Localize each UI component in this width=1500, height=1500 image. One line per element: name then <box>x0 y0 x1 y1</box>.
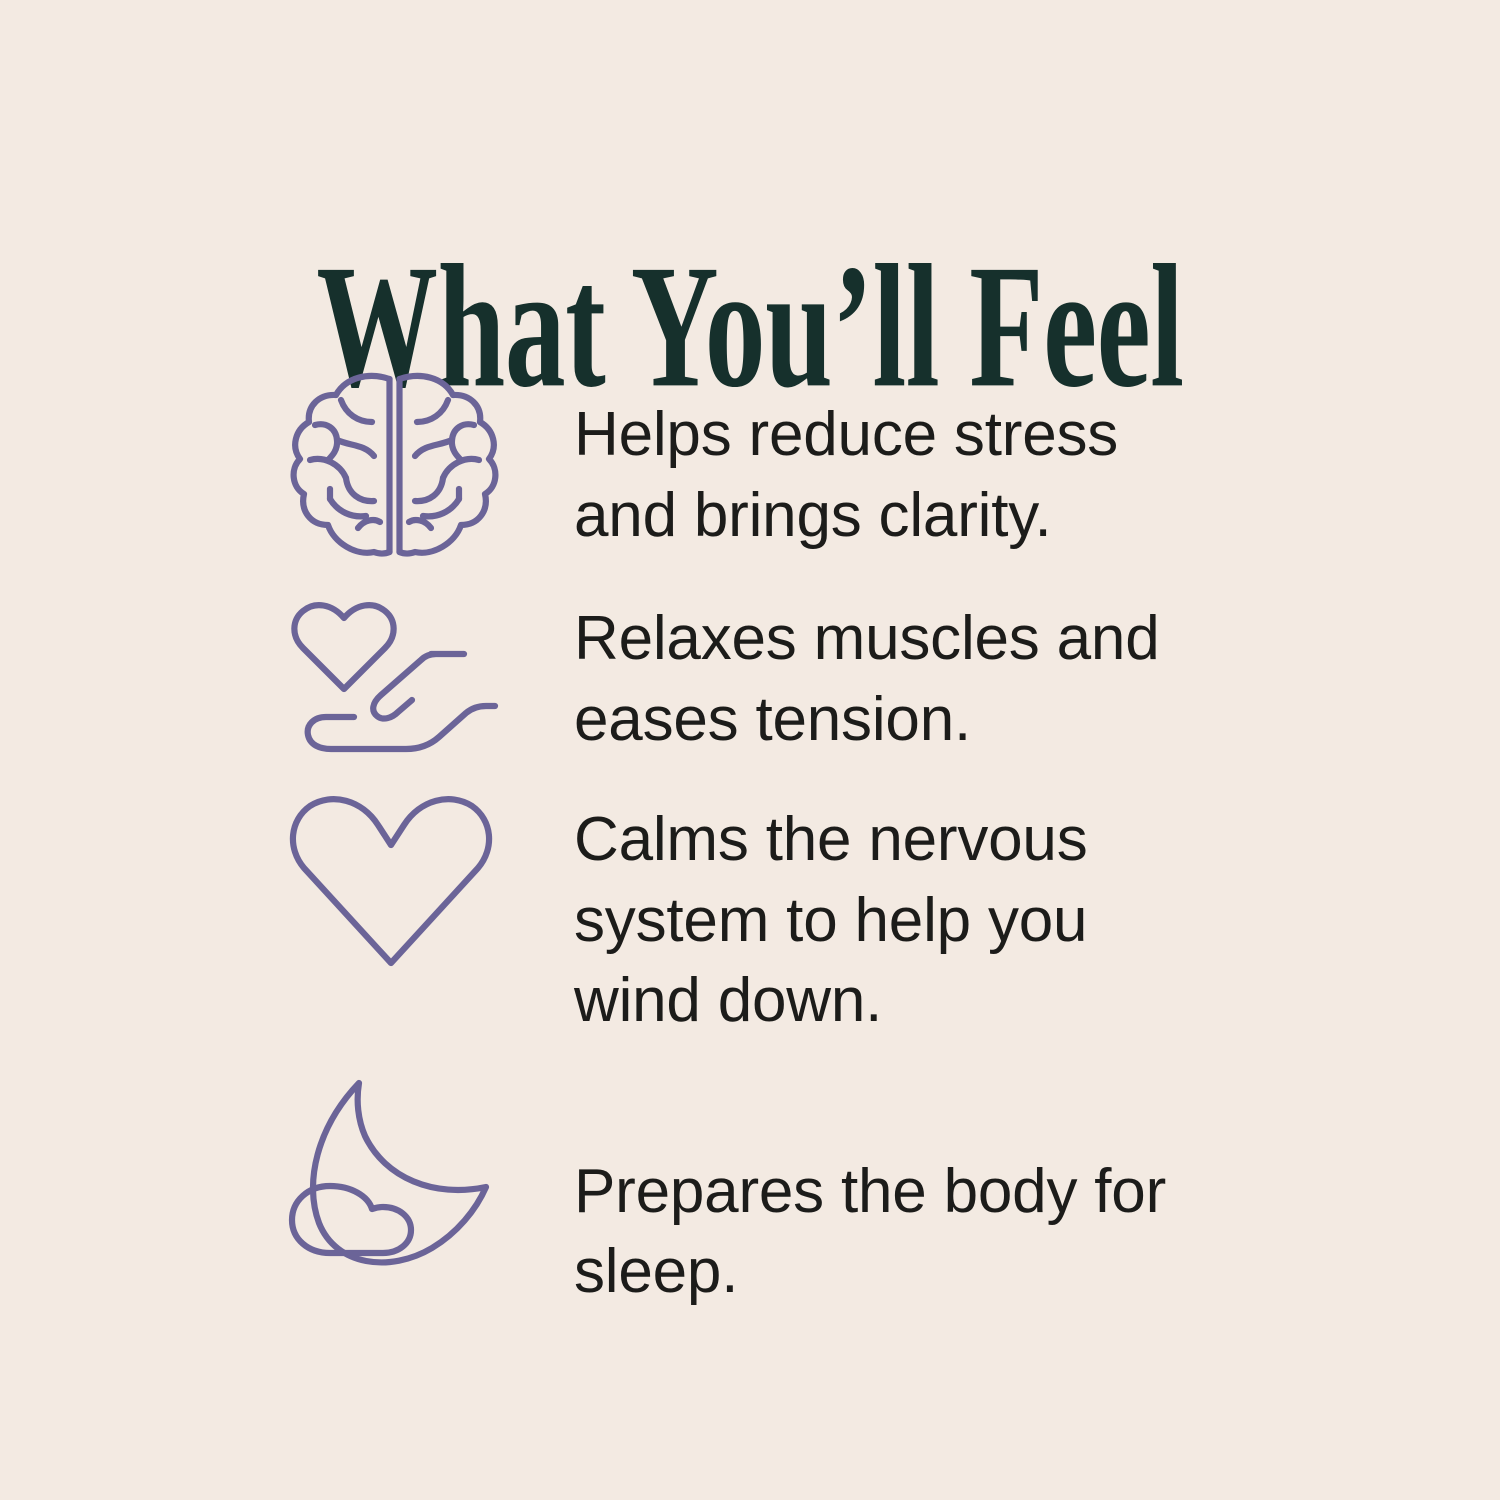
feature-list: Helps reduce stress and brings clarity. … <box>286 368 1296 1313</box>
list-item: Calms the nervous system to help you win… <box>286 787 1296 1042</box>
list-item: Prepares the body for sleep. <box>286 1064 1296 1313</box>
feature-description: Relaxes muscles and eases tension. <box>574 599 1296 760</box>
feature-description: Helps reduce stress and brings clarity. <box>574 395 1296 556</box>
list-item: Relaxes muscles and eases tension. <box>286 589 1296 761</box>
feature-text-cell: Relaxes muscles and eases tension. <box>516 589 1296 760</box>
feature-icon-cell <box>286 368 516 563</box>
feature-description: Calms the nervous system to help you win… <box>574 800 1296 1042</box>
heart-in-hand-icon <box>286 601 501 761</box>
brain-icon <box>286 368 501 563</box>
heart-outline-icon <box>286 795 496 967</box>
what-youll-feel-panel: What You’ll Feel <box>0 0 1500 1500</box>
feature-text-cell: Calms the nervous system to help you win… <box>516 787 1296 1042</box>
feature-icon-cell <box>286 589 516 761</box>
crescent-moon-cloud-icon <box>286 1070 501 1270</box>
feature-icon-cell <box>286 787 516 967</box>
feature-icon-cell <box>286 1064 516 1270</box>
list-item: Helps reduce stress and brings clarity. <box>286 368 1296 563</box>
feature-text-cell: Prepares the body for sleep. <box>516 1064 1296 1313</box>
feature-description: Prepares the body for sleep. <box>574 1152 1296 1313</box>
feature-text-cell: Helps reduce stress and brings clarity. <box>516 368 1296 556</box>
